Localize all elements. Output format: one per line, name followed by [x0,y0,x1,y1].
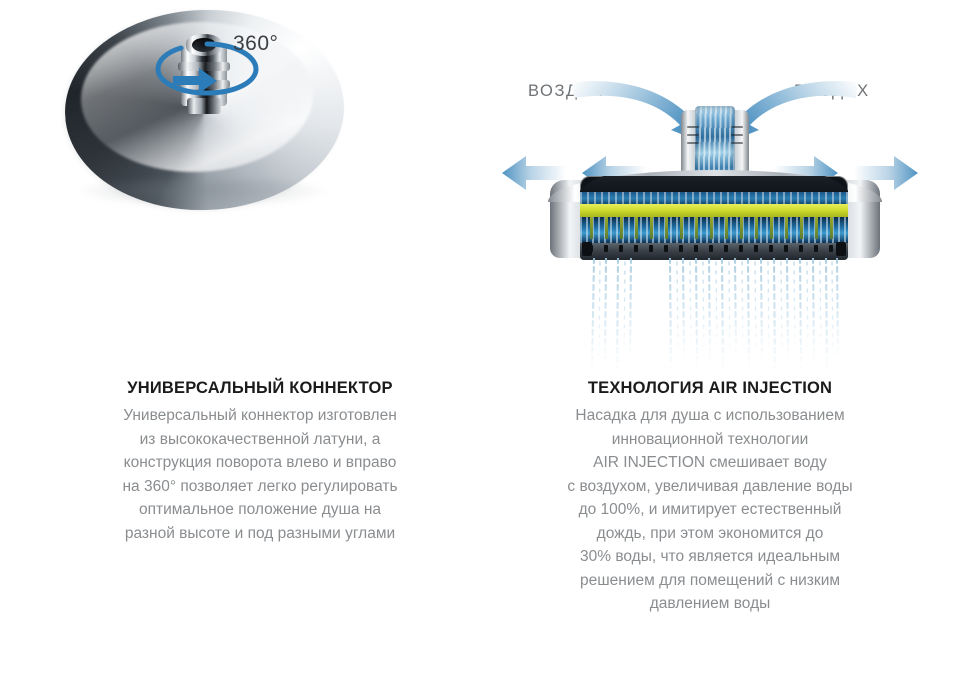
page-title-right: ТЕХНОЛОГИЯ AIR INJECTION [490,378,930,398]
cutaway-nozzle [814,245,818,252]
cutaway-nozzle-stem [785,217,788,239]
connector-band-upper [178,62,230,71]
cutaway-nozzle-stem [710,217,713,239]
universal-connector-caption: УНИВЕРСАЛЬНЫЙ КОННЕКТОР Универсальный ко… [40,378,480,545]
body-line: конструкция поворота влево и вправо [40,451,480,475]
infographic-canvas: 360° УНИВЕРСАЛЬНЫЙ КОННЕКТОР Универсальн… [0,0,970,684]
connector-band-lower [178,80,230,89]
body-line: на 360° позволяет легко регулировать [40,475,480,499]
cutaway-corner-block [836,242,846,256]
panel-universal-connector: 360° УНИВЕРСАЛЬНЫЙ КОННЕКТОР Универсальн… [40,0,480,684]
body-line: инновационной технологии [490,428,930,452]
body-line: Универсальный коннектор изготовлен [40,404,480,428]
connector-socket-hole [192,38,216,52]
body-line: до 100%, и имитирует естественный [490,498,930,522]
cutaway-nozzle [694,245,698,252]
neck-rib [687,134,699,136]
cutaway-nozzle [769,245,773,252]
cutaway-nozzle [649,245,653,252]
cutaway-nozzle [634,245,638,252]
cutaway-nozzle-stem [650,217,653,239]
cutaway-nozzle [604,245,608,252]
panel-air-injection: ВОЗДУХ ВОЗДУХ [490,0,930,684]
cutaway-nozzle-stem [635,217,638,239]
body-line: Насадка для душа с использованием [490,404,930,428]
cutaway-nozzle [799,245,803,252]
body-text-left: Универсальный коннектор изготовлен из вы… [40,404,480,545]
body-line: разной высоте и под разными углами [40,522,480,546]
shower-head-cutaway [550,106,880,290]
cutaway-nozzle-stem [815,217,818,239]
air-label-left: ВОЗДУХ [528,82,604,101]
body-line: дождь, при этом экономится до [490,522,930,546]
cutaway-nozzle-stem [740,217,743,239]
neck-rib [687,142,699,144]
air-label-right: ВОЗДУХ [794,82,870,101]
cutaway-nozzle [619,245,623,252]
air-injection-caption: ТЕХНОЛОГИЯ AIR INJECTION Насадка для душ… [490,378,930,616]
shower-disc-illustration: 360° [65,10,355,240]
cutaway-window [580,176,848,260]
cutaway-nozzle-stem [725,217,728,239]
body-line: решением для помещений с низким [490,569,930,593]
rotation-degree-label: 360° [233,32,278,56]
connector-base [187,98,221,114]
cutaway-nozzle-stem [830,217,833,239]
cutaway-nozzle-stem [800,217,803,239]
neck-rib [731,142,743,144]
body-line: из высококачественной латуни, а [40,428,480,452]
cutaway-nozzle [784,245,788,252]
cutaway-aeration-plate [580,204,848,217]
cutaway-nozzle [829,245,833,252]
body-line: AIR INJECTION смешивает воду [490,451,930,475]
cutaway-nozzle-stem [590,217,593,239]
neck-rib [731,126,743,128]
cutaway-nozzle [679,245,683,252]
body-line: оптимальное положение душа на [40,498,480,522]
cutaway-nozzle [709,245,713,252]
body-line: 30% воды, что является идеальным [490,545,930,569]
universal-connector-figure: 360° [40,0,480,370]
air-injection-illustration: ВОЗДУХ ВОЗДУХ [490,0,930,370]
cutaway-nozzle [589,245,593,252]
neck-rib [687,126,699,128]
cutaway-nozzle-stem [770,217,773,239]
water-spray-icon [586,258,844,376]
cutaway-nozzle-stem [680,217,683,239]
cutaway-nozzle-stem [695,217,698,239]
cutaway-nozzle [664,245,668,252]
cutaway-nozzle-stem [665,217,668,239]
air-injection-figure: ВОЗДУХ ВОЗДУХ [490,0,930,370]
page-title-left: УНИВЕРСАЛЬНЫЙ КОННЕКТОР [40,378,480,398]
neck-rib [731,134,743,136]
cutaway-nozzle-stem [605,217,608,239]
cutaway-nozzle [754,245,758,252]
body-line: давлением воды [490,592,930,616]
cutaway-nozzle-stem [620,217,623,239]
cutaway-nozzle [739,245,743,252]
body-text-right: Насадка для душа с использованием иннова… [490,404,930,616]
body-line: с воздухом, увеличивая давление воды [490,475,930,499]
cutaway-nozzle-stem [755,217,758,239]
cutaway-nozzle [724,245,728,252]
connector-assembly [173,32,235,118]
